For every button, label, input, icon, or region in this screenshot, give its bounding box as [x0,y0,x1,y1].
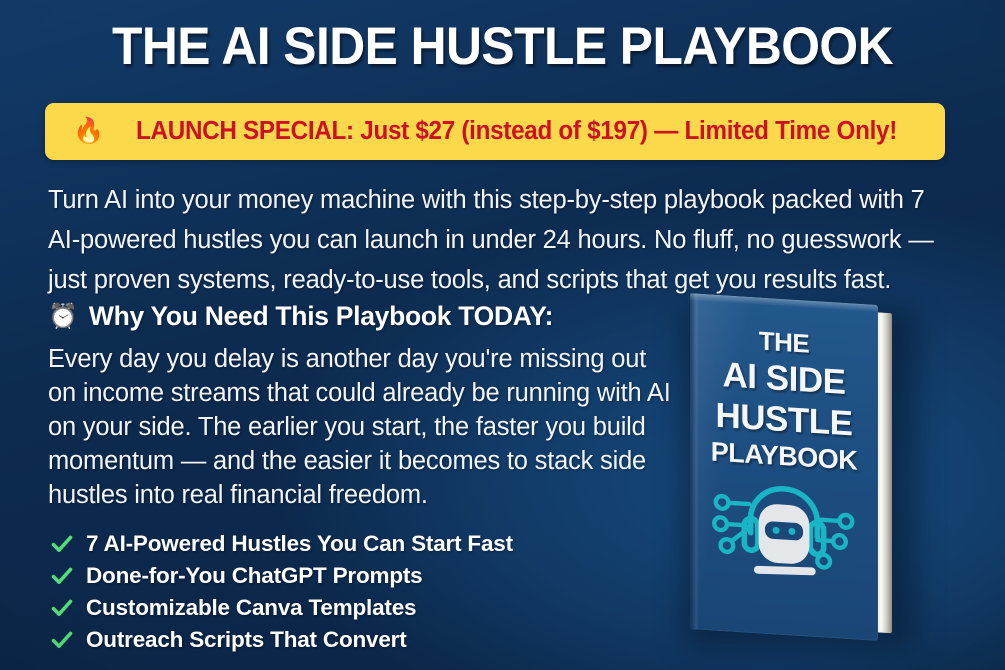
ai-side-hustle-promo-card: THE AI SIDE HUSTLE PLAYBOOK 🔥 LAUNCH SPE… [0,0,1005,670]
book-title-line-1: THE [759,327,810,356]
launch-special-banner: 🔥 LAUNCH SPECIAL: Just $27 (instead of $… [45,103,945,160]
check-icon [50,564,74,588]
check-icon [50,532,74,556]
feature-label: Customizable Canva Templates [86,595,416,621]
feature-list: 7 AI-Powered Hustles You Can Start Fast … [50,528,650,656]
why-section-heading: ⏰ Why You Need This Playbook TODAY: [48,301,553,332]
book-cover-mockup: THE AI SIDE HUSTLE PLAYBOOK [676,296,936,646]
list-item: Done-for-You ChatGPT Prompts [50,560,650,592]
fire-icon: 🔥 [73,119,104,144]
ai-robot-headphones-icon [704,479,864,581]
book-title-line-2: AI SIDE [723,357,846,400]
list-item: Customizable Canva Templates [50,592,650,624]
why-section-paragraph: Every day you delay is another day you'r… [48,342,673,512]
feature-label: Outreach Scripts That Convert [86,627,407,653]
page-title: THE AI SIDE HUSTLE PLAYBOOK [30,18,975,76]
check-icon [50,596,74,620]
feature-label: 7 AI-Powered Hustles You Can Start Fast [86,531,513,557]
check-icon [50,628,74,652]
launch-special-text: LAUNCH SPECIAL: Just $27 (instead of $19… [136,117,897,146]
book-front-cover: THE AI SIDE HUSTLE PLAYBOOK [690,293,878,641]
why-section-heading-label: Why You Need This Playbook TODAY: [89,301,553,332]
feature-label: Done-for-You ChatGPT Prompts [86,563,422,589]
alarm-clock-icon: ⏰ [48,305,78,329]
list-item: Outreach Scripts That Convert [50,624,650,656]
intro-paragraph: Turn AI into your money machine with thi… [48,180,953,300]
list-item: 7 AI-Powered Hustles You Can Start Fast [50,528,650,560]
book-title-line-3: HUSTLE [716,398,853,442]
book-title-line-4: PLAYBOOK [711,438,858,474]
